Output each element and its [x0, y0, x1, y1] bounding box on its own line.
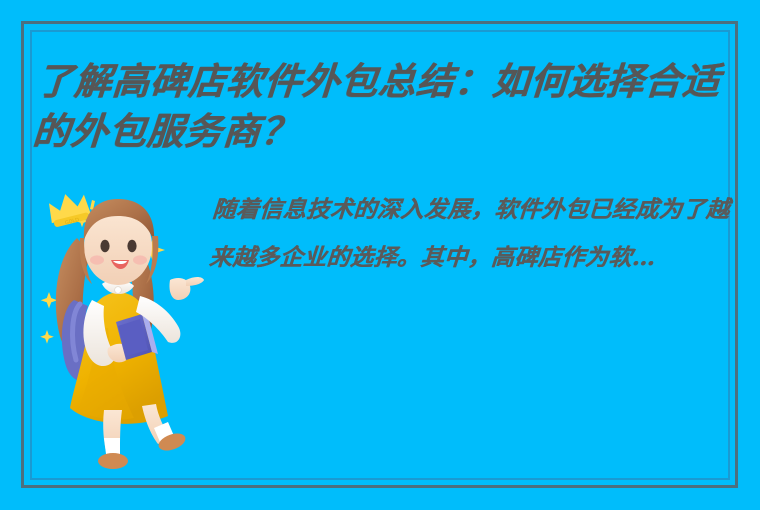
article-title: 了解高碑店软件外包总结：如何选择合适的外包服务商？: [31, 56, 754, 156]
eye: [127, 240, 136, 252]
shoe: [98, 453, 128, 469]
sparkle-icon: [40, 330, 54, 344]
eye: [100, 240, 109, 252]
girl-illustration: GOLD: [30, 180, 210, 472]
article-excerpt: 随着信息技术的深入发展，软件外包已经成为了越来越多企业的选择。其中，高碑店作为软…: [207, 186, 734, 282]
sparkle-icon: [41, 292, 57, 308]
article-card: 了解高碑店软件外包总结：如何选择合适的外包服务商？ 随着信息技术的深入发展，软件…: [0, 0, 760, 510]
